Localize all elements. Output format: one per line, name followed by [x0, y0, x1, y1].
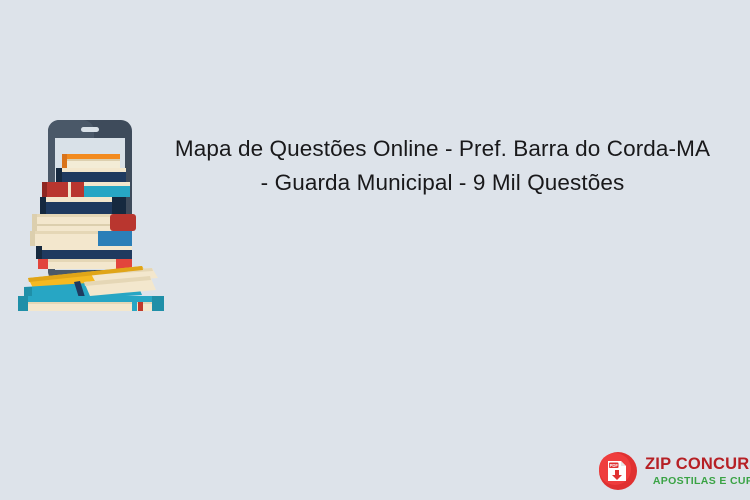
- logo-primary-text: ZIP CONCURSOS: [645, 456, 750, 473]
- book-stack-tablet-illustration: [12, 118, 172, 313]
- book-cream-red: [32, 214, 136, 231]
- book-red-lower: [38, 259, 132, 269]
- book-navy-top: [56, 168, 126, 182]
- book-navy-mid: [40, 197, 126, 214]
- promo-banner: Mapa de Questões Online - Pref. Barra do…: [0, 0, 750, 500]
- book-navy-lower: [36, 246, 132, 259]
- logo-secondary-text: APOSTILAS E CURSOS: [645, 476, 750, 487]
- book-orange: [62, 154, 120, 168]
- title-line-1: Mapa de Questões Online - Pref. Barra do…: [150, 132, 735, 166]
- page-title: Mapa de Questões Online - Pref. Barra do…: [150, 132, 735, 200]
- title-line-2: - Guarda Municipal - 9 Mil Questões: [150, 166, 735, 200]
- book-blue-mid: [30, 231, 132, 246]
- book-red-teal: [42, 182, 130, 197]
- svg-text:PDF: PDF: [610, 463, 619, 468]
- brand-logo[interactable]: PDF ZIP CONCURSOS APOSTILAS E CURSOS: [598, 449, 746, 493]
- pdf-download-icon: PDF: [598, 451, 638, 491]
- logo-wordmark: ZIP CONCURSOS APOSTILAS E CURSOS: [645, 456, 750, 486]
- book-base-teal: [18, 296, 164, 311]
